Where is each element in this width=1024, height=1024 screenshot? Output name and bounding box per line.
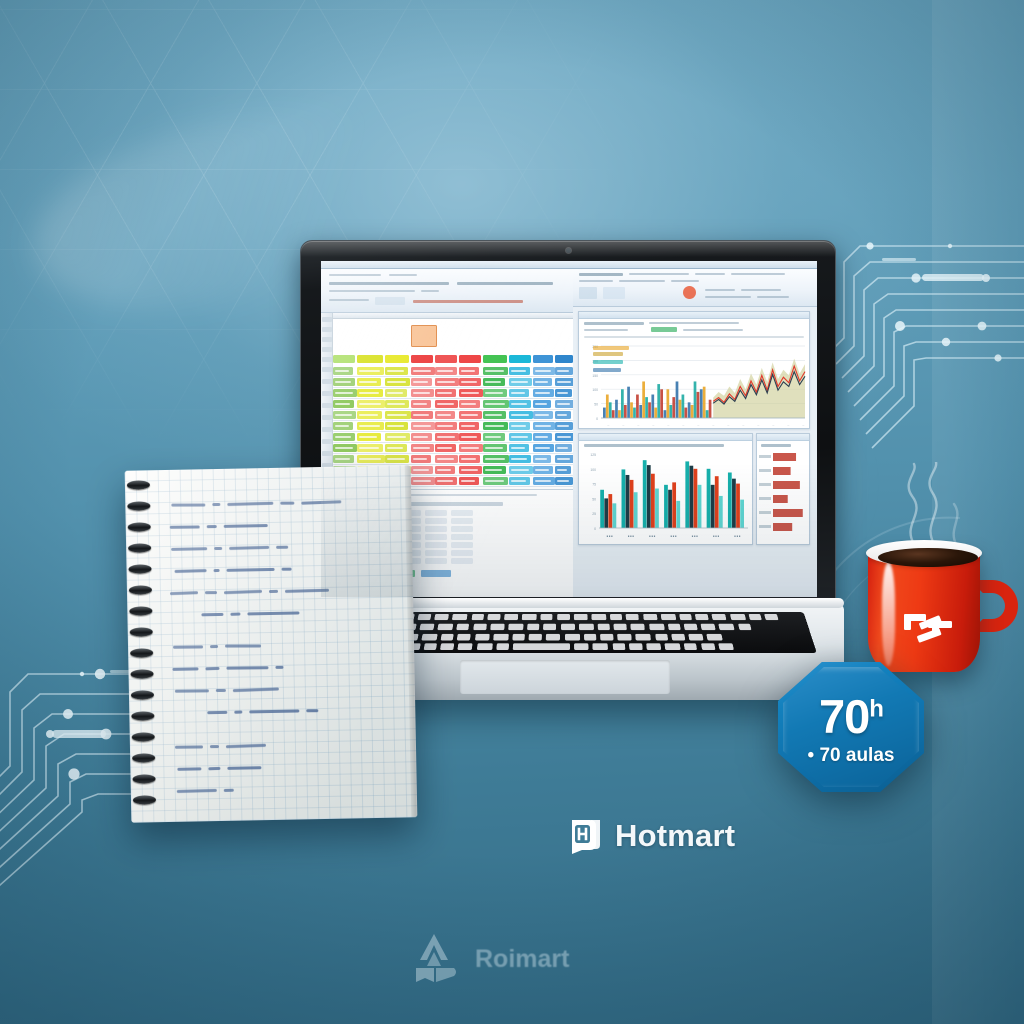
spreadsheet-ribbon[interactable] <box>321 269 573 313</box>
keyboard-key[interactable] <box>574 643 588 650</box>
keyboard-key[interactable] <box>598 624 610 630</box>
svg-text:∙∙∙: ∙∙∙ <box>742 423 745 427</box>
mug-logo-icon <box>902 602 958 644</box>
keyboard-key[interactable] <box>452 614 468 620</box>
keyboard-key[interactable] <box>649 624 665 630</box>
keyboard-key[interactable] <box>636 634 652 641</box>
keyboard-key[interactable] <box>668 624 681 630</box>
keyboard-key[interactable] <box>527 624 539 630</box>
keyboard-key[interactable] <box>504 614 518 620</box>
binding-ring <box>130 669 153 678</box>
keyboard-key[interactable] <box>529 634 542 641</box>
keyboard-key[interactable] <box>684 643 697 650</box>
table-cell[interactable] <box>425 558 447 564</box>
svg-text:∙∙∙: ∙∙∙ <box>772 423 775 427</box>
table-cell[interactable] <box>451 534 473 540</box>
keyboard-key[interactable] <box>701 643 716 650</box>
keyboard-key[interactable] <box>671 634 685 641</box>
svg-text:∙∙∙: ∙∙∙ <box>727 423 730 427</box>
binding-ring <box>129 585 152 594</box>
keyboard-key[interactable] <box>543 624 556 630</box>
svg-text:0: 0 <box>596 417 598 421</box>
svg-text:∙∙∙: ∙∙∙ <box>607 423 610 427</box>
keyboard-key[interactable] <box>718 643 734 650</box>
grouped-bar-chart: 1251007550250∎∎∎∎∎∎∎∎∎∎∎∎∎∎∎∎∎∎∎∎∎ <box>579 450 754 542</box>
badge-hours-value: 70 <box>819 690 869 743</box>
svg-text:100: 100 <box>592 388 598 392</box>
keyboard-key[interactable] <box>719 624 735 630</box>
keyboard-key[interactable] <box>434 614 449 620</box>
keyboard-key[interactable] <box>522 614 537 620</box>
svg-text:∙∙∙: ∙∙∙ <box>652 423 655 427</box>
keyboard-key[interactable] <box>441 634 454 641</box>
keyboard-key[interactable] <box>438 624 454 630</box>
svg-text:50: 50 <box>592 497 596 501</box>
keyboard-key[interactable] <box>730 614 746 620</box>
webcam-icon <box>566 248 571 253</box>
mug-highlight <box>882 562 895 666</box>
binding-ring <box>130 648 153 657</box>
steam-icon <box>872 462 992 546</box>
svg-text:75: 75 <box>592 483 596 487</box>
svg-text:25: 25 <box>592 512 596 516</box>
roimart-mark-icon <box>414 932 466 986</box>
keyboard-key[interactable] <box>712 614 727 620</box>
binding-ring <box>128 543 151 552</box>
badge-hours: 70h <box>778 689 924 744</box>
hotmart-logo[interactable]: Hotmart <box>570 812 770 860</box>
svg-text:∎∎∎: ∎∎∎ <box>670 534 677 538</box>
keyboard-key[interactable] <box>600 634 613 641</box>
keyboard-key[interactable] <box>541 614 553 620</box>
keyboard-key[interactable] <box>475 634 490 641</box>
keyboard-key[interactable] <box>440 643 454 650</box>
grouped-bar-panel[interactable]: 1251007550250∎∎∎∎∎∎∎∎∎∎∎∎∎∎∎∎∎∎∎∎∎ <box>578 433 753 545</box>
keyboard-key[interactable] <box>508 624 523 630</box>
keyboard-key[interactable] <box>476 643 492 650</box>
svg-text:∎∎∎: ∎∎∎ <box>713 534 720 538</box>
binding-ring <box>131 711 154 720</box>
binding-ring <box>127 480 150 489</box>
svg-text:0: 0 <box>594 527 596 531</box>
keyboard-key[interactable] <box>617 634 632 641</box>
keyboard-key[interactable] <box>561 624 575 630</box>
svg-text:∎∎∎: ∎∎∎ <box>734 534 741 538</box>
keyboard-key[interactable] <box>457 624 470 630</box>
table-cell[interactable] <box>425 534 447 540</box>
binding-ring <box>128 564 151 573</box>
svg-text:∙∙∙: ∙∙∙ <box>697 423 700 427</box>
keyboard-key[interactable] <box>512 634 525 641</box>
keyboard-key[interactable] <box>421 634 437 641</box>
dashboard-ribbon[interactable] <box>573 269 817 307</box>
svg-text:∙∙∙: ∙∙∙ <box>622 423 625 427</box>
keyboard-key[interactable] <box>493 634 509 641</box>
svg-text:∎∎∎: ∎∎∎ <box>627 534 634 538</box>
roimart-wordmark: Roimart <box>475 945 569 974</box>
table-cell[interactable] <box>425 526 447 532</box>
svg-text:∙∙∙: ∙∙∙ <box>712 423 715 427</box>
window-title-bar <box>321 261 817 269</box>
keyboard-key[interactable] <box>419 624 434 630</box>
table-cell[interactable] <box>451 550 473 556</box>
keyboard-key[interactable] <box>643 614 657 620</box>
svg-text:∙∙∙: ∙∙∙ <box>757 423 760 427</box>
coffee-surface <box>878 548 978 567</box>
keyboard-key[interactable] <box>701 624 716 630</box>
keyboard-key[interactable] <box>612 643 625 650</box>
table-cell[interactable] <box>451 542 473 548</box>
table-cell[interactable] <box>425 542 447 548</box>
keyboard-key[interactable] <box>695 614 709 620</box>
binding-ring <box>132 732 155 741</box>
table-cell[interactable] <box>451 558 473 564</box>
svg-text:∎∎∎: ∎∎∎ <box>606 534 613 538</box>
scene-root: 250200150100500∙∙∙∙∙∙∙∙∙∙∙∙∙∙∙∙∙∙∙∙∙∙∙∙∙… <box>0 0 1024 1024</box>
keyboard-key[interactable] <box>458 643 473 650</box>
svg-text:50: 50 <box>594 403 598 407</box>
keyboard-key[interactable] <box>660 614 676 620</box>
svg-text:125: 125 <box>590 453 596 457</box>
keyboard-key[interactable] <box>584 634 596 641</box>
keyboard-key[interactable] <box>738 624 751 630</box>
svg-text:150: 150 <box>592 374 598 378</box>
badge-hours-suffix: h <box>869 695 883 722</box>
keyboard-key[interactable] <box>646 643 661 650</box>
trackpad[interactable] <box>460 660 670 694</box>
keyboard-key[interactable] <box>574 614 588 620</box>
hotmart-book-icon <box>570 818 604 854</box>
binding-ring <box>133 795 156 804</box>
keyboard-key[interactable] <box>688 634 703 641</box>
keyboard-key[interactable] <box>473 624 487 630</box>
dashboard-pane[interactable]: 250200150100500∙∙∙∙∙∙∙∙∙∙∙∙∙∙∙∙∙∙∙∙∙∙∙∙∙… <box>573 269 817 597</box>
keyboard-key[interactable] <box>631 624 646 630</box>
keyboard-key[interactable] <box>591 614 606 620</box>
combo-chart-panel[interactable]: 250200150100500∙∙∙∙∙∙∙∙∙∙∙∙∙∙∙∙∙∙∙∙∙∙∙∙∙… <box>578 311 810 429</box>
binding-ring <box>128 522 151 531</box>
table-cell[interactable] <box>425 550 447 556</box>
keyboard-key[interactable] <box>629 643 643 650</box>
binding-ring <box>132 753 155 762</box>
keyboard-key[interactable] <box>490 624 505 630</box>
keyboard-key[interactable] <box>496 643 509 650</box>
keyboard-key[interactable] <box>626 614 639 620</box>
keyboard-key[interactable] <box>593 643 609 650</box>
hours-badge: 70h • 70 aulas <box>778 662 924 792</box>
binding-ring <box>131 690 154 699</box>
keyboard-key[interactable] <box>565 634 580 641</box>
coffee-mug <box>862 536 1024 676</box>
horizontal-bar-panel[interactable] <box>756 433 810 545</box>
svg-text:∎∎∎: ∎∎∎ <box>649 534 656 538</box>
keyboard-key[interactable] <box>655 634 668 641</box>
binding-ring <box>129 606 152 615</box>
svg-text:∙∙∙: ∙∙∙ <box>802 423 805 427</box>
selected-cell[interactable] <box>411 325 437 347</box>
keyboard-key[interactable] <box>579 624 594 630</box>
svg-text:100: 100 <box>590 468 596 472</box>
keyboard-key[interactable] <box>546 634 560 641</box>
table-cell[interactable] <box>451 510 473 516</box>
keyboard-key[interactable] <box>764 614 778 620</box>
table-cell[interactable] <box>451 526 473 532</box>
svg-text:∙∙∙: ∙∙∙ <box>787 423 790 427</box>
keyboard-key[interactable] <box>707 634 723 641</box>
svg-text:∙∙∙: ∙∙∙ <box>637 423 640 427</box>
paper-shading <box>125 465 418 822</box>
keyboard-key[interactable] <box>457 634 471 641</box>
table-cell[interactable] <box>425 510 447 516</box>
keyboard-key[interactable] <box>665 643 681 650</box>
table-cell[interactable] <box>425 518 447 524</box>
keyboard-key[interactable] <box>513 643 570 650</box>
binding-ring <box>132 774 155 783</box>
keyboard-key[interactable] <box>679 614 692 620</box>
table-cell[interactable] <box>451 518 473 524</box>
keyboard-key[interactable] <box>614 624 627 630</box>
horizontal-bar-chart <box>757 449 811 541</box>
keyboard-key[interactable] <box>610 614 622 620</box>
svg-text:∙∙∙: ∙∙∙ <box>682 423 685 427</box>
keyboard-key[interactable] <box>684 624 698 630</box>
keyboard-key[interactable] <box>417 614 431 620</box>
svg-text:∙∙∙: ∙∙∙ <box>667 423 670 427</box>
binding-ring <box>130 627 153 636</box>
spiral-notebook[interactable] <box>125 465 418 822</box>
roimart-watermark: Roimart <box>414 928 614 990</box>
keyboard-key[interactable] <box>748 614 761 620</box>
keyboard-key[interactable] <box>424 643 437 650</box>
keyboard-key[interactable] <box>487 614 500 620</box>
keyboard-key[interactable] <box>471 614 484 620</box>
keyboard-key[interactable] <box>557 614 570 620</box>
badge-subtitle: • 70 aulas <box>778 745 924 767</box>
mug-rim <box>866 540 982 566</box>
hotmart-wordmark: Hotmart <box>615 818 735 854</box>
binding-ring <box>127 501 150 510</box>
svg-text:∎∎∎: ∎∎∎ <box>691 534 698 538</box>
